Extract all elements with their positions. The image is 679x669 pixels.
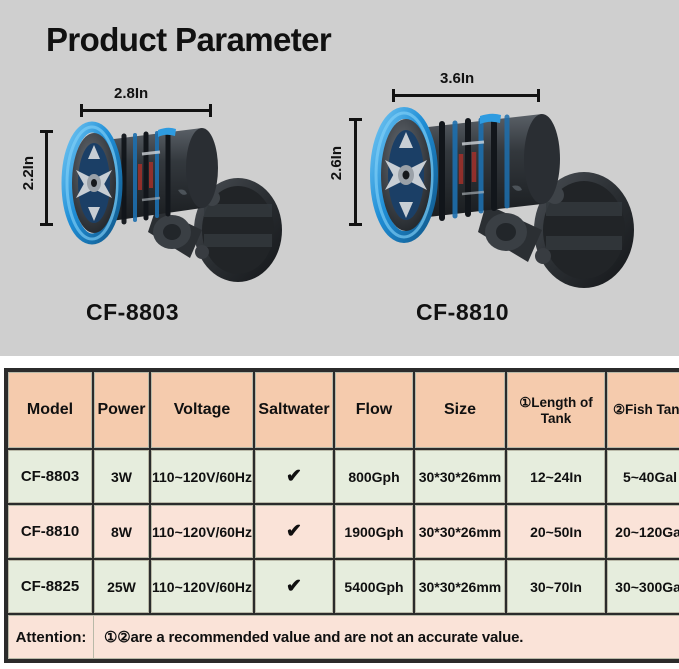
height-dimension-label-cf-8810: 2.6In	[328, 146, 345, 180]
table-row: CF-8803 3W 110~120V/60Hz ✔ 800Gph 30*30*…	[8, 450, 679, 503]
width-dimension-label-cf-8803: 2.8In	[114, 85, 148, 102]
width-dimension-label-cf-8810: 3.6In	[440, 70, 474, 87]
cell-fish-tank: 5~40Gal	[607, 450, 679, 503]
attention-label: Attention:	[9, 616, 94, 658]
cell-power: 3W	[94, 450, 149, 503]
column-header-power: Power	[94, 372, 149, 448]
cell-size: 30*30*26mm	[415, 505, 505, 558]
table-row: CF-8810 8W 110~120V/60Hz ✔ 1900Gph 30*30…	[8, 505, 679, 558]
cell-flow: 1900Gph	[335, 505, 413, 558]
column-header-saltwater: Saltwater	[255, 372, 333, 448]
height-dimension-line-cf-8803	[45, 130, 48, 226]
model-caption-cf-8810: CF-8810	[416, 299, 509, 326]
cell-flow: 5400Gph	[335, 560, 413, 613]
attention-text: ①②are a recommended value and are not an…	[94, 628, 523, 646]
column-header-voltage: Voltage	[151, 372, 253, 448]
column-header-length-of-tank: ①Length of Tank	[507, 372, 605, 448]
table-footer-row: Attention: ①②are a recommended value and…	[8, 615, 679, 659]
cell-saltwater-check: ✔	[255, 450, 333, 503]
cell-voltage: 110~120V/60Hz	[151, 450, 253, 503]
column-header-fish-tank: ②Fish Tank	[607, 372, 679, 448]
cell-model: CF-8825	[8, 560, 92, 613]
spec-table-container: Model Power Voltage Saltwater Flow Size …	[4, 368, 675, 663]
width-dimension-line-cf-8810	[392, 94, 540, 97]
column-header-size: Size	[415, 372, 505, 448]
cell-saltwater-check: ✔	[255, 505, 333, 558]
cell-fish-tank: 20~120Gal	[607, 505, 679, 558]
product-figure-cf-8810: 3.6In 2.6In	[330, 0, 679, 356]
cell-length-of-tank: 20~50In	[507, 505, 605, 558]
cell-flow: 800Gph	[335, 450, 413, 503]
cell-fish-tank: 30~300Gal	[607, 560, 679, 613]
column-header-flow: Flow	[335, 372, 413, 448]
product-illustration-panel: Product Parameter 2.8In 2.2In	[0, 0, 679, 356]
attention-note-cell: Attention: ①②are a recommended value and…	[8, 615, 679, 659]
spec-table: Model Power Voltage Saltwater Flow Size …	[4, 368, 679, 663]
cell-voltage: 110~120V/60Hz	[151, 560, 253, 613]
product-figure-cf-8803: 2.8In 2.2In	[0, 0, 330, 356]
cell-size: 30*30*26mm	[415, 560, 505, 613]
height-dimension-line-cf-8810	[354, 118, 357, 226]
impeller-face-cf-8803	[72, 133, 116, 233]
column-header-model: Model	[8, 372, 92, 448]
cell-model: CF-8803	[8, 450, 92, 503]
ball-joint-cf-8810	[478, 204, 542, 262]
cell-saltwater-check: ✔	[255, 560, 333, 613]
cell-power: 8W	[94, 505, 149, 558]
impeller-face-cf-8810	[381, 119, 431, 231]
cell-length-of-tank: 30~70In	[507, 560, 605, 613]
cell-power: 25W	[94, 560, 149, 613]
table-row: CF-8825 25W 110~120V/60Hz ✔ 5400Gph 30*3…	[8, 560, 679, 613]
cell-size: 30*30*26mm	[415, 450, 505, 503]
table-header-row: Model Power Voltage Saltwater Flow Size …	[8, 372, 679, 448]
cell-length-of-tank: 12~24In	[507, 450, 605, 503]
height-dimension-label-cf-8803: 2.2In	[20, 156, 37, 190]
pump-illustration-cf-8810	[362, 100, 652, 300]
cell-voltage: 110~120V/60Hz	[151, 505, 253, 558]
cell-model: CF-8810	[8, 505, 92, 558]
pump-illustration-cf-8803	[52, 112, 302, 297]
model-caption-cf-8803: CF-8803	[86, 299, 179, 326]
